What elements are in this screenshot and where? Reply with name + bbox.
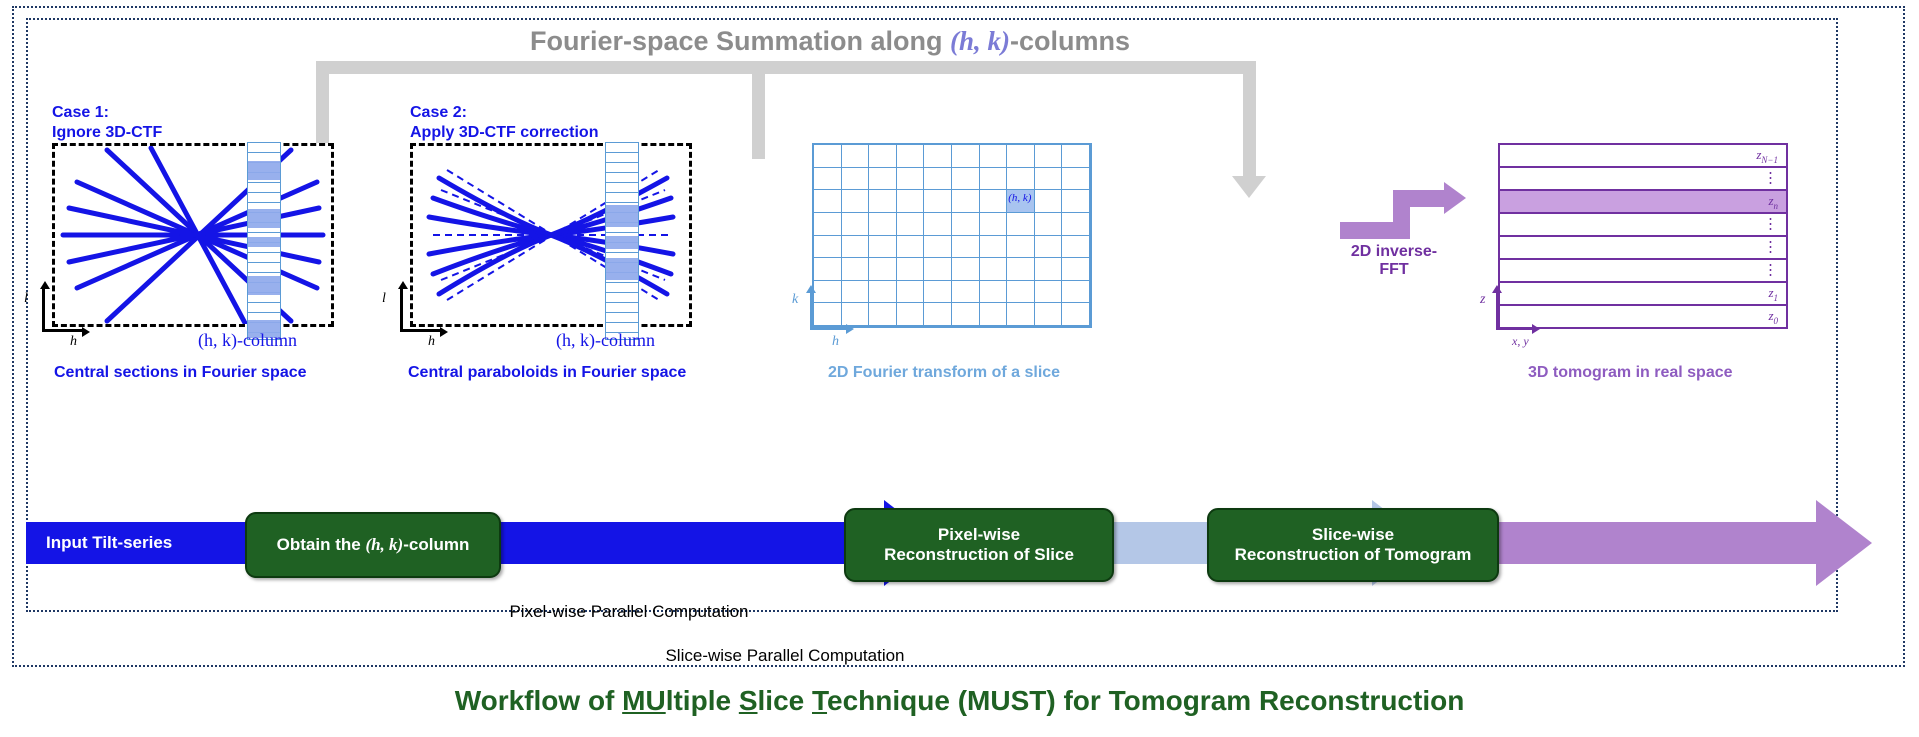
case1-caption: Central sections in Fourier space <box>54 364 307 382</box>
fourier-grid-cell <box>1035 258 1063 281</box>
fourier-grid-cell <box>1007 168 1035 191</box>
tomogram-slice-ellipsis: ⋮ <box>1763 243 1778 252</box>
grey-bracket-leg-grid <box>1243 61 1256 181</box>
gbox3-line1: Slice-wise <box>1312 525 1394 544</box>
fourier-grid-cell <box>842 258 870 281</box>
tomo-xaxis-label: x, y <box>1512 334 1529 349</box>
fourier-grid-cell <box>924 145 952 168</box>
tomogram-slices: zN−1⋮zn⋮⋮⋮z1z0 <box>1498 143 1788 329</box>
fourier-grid-cell <box>897 236 925 259</box>
case2-xaxis-label: h <box>428 334 435 350</box>
fourier-grid-cell <box>952 303 980 326</box>
fourier-grid-cell <box>842 213 870 236</box>
heading-suffix: -columns <box>1010 26 1130 56</box>
fourier-grid-cell <box>980 236 1008 259</box>
central-paraboloids-svg <box>413 146 689 324</box>
fourier-grid-cell <box>980 281 1008 304</box>
flow-arrow-purple-head-icon <box>1816 500 1872 586</box>
fourier-grid-cell <box>1062 258 1090 281</box>
grey-bracket-top <box>316 61 1256 74</box>
case2-caption: Central paraboloids in Fourier space <box>408 364 686 382</box>
fourier-grid-cell <box>924 168 952 191</box>
heading-prefix: Fourier-space Summation along <box>530 26 950 56</box>
gbox1-pre: Obtain the <box>277 535 366 554</box>
fourier-grid-cell <box>980 213 1008 236</box>
fourier-grid-cell <box>897 145 925 168</box>
tomogram-slice: z1 <box>1500 283 1786 306</box>
fourier-grid-cell <box>952 168 980 191</box>
fourier-grid-cell <box>1007 303 1035 326</box>
title-part2: ltiple <box>666 685 739 716</box>
case1-line2: Ignore 3D-CTF <box>52 123 162 143</box>
tomogram-slice-highlighted: zn <box>1500 191 1786 214</box>
fourier-grid-cell <box>1035 213 1063 236</box>
fourier-grid-cell <box>952 213 980 236</box>
fourier-grid-cell-hk: (h, k) <box>1007 190 1035 213</box>
title-part4: echnique (MUST) for Tomogram Reconstruct… <box>827 685 1464 716</box>
tomogram-slice: z0 <box>1500 306 1786 327</box>
tomogram-slice: ⋮ <box>1500 237 1786 260</box>
fourier-grid-cell <box>1062 213 1090 236</box>
grid-yaxis-arrow-icon <box>806 285 816 293</box>
gbox2-line2: Reconstruction of Slice <box>884 545 1074 564</box>
grid-yaxis-label: k <box>792 292 798 308</box>
slice-wise-parallel-caption: Slice-wise Parallel Computation <box>560 646 1010 666</box>
inverse-fft-arrow-head-icon <box>1444 182 1466 214</box>
case1-xaxis-arrow-icon <box>82 327 90 337</box>
case2-hk-column-band <box>605 142 639 340</box>
fourier-grid-cell <box>842 236 870 259</box>
tomogram-slice-ellipsis: ⋮ <box>1763 266 1778 275</box>
case2-line2: Apply 3D-CTF correction <box>410 123 598 143</box>
fourier-grid-cell <box>1062 145 1090 168</box>
fourier-grid-cell <box>869 213 897 236</box>
fourier-grid-cell <box>952 258 980 281</box>
fourier-grid-cell <box>1035 303 1063 326</box>
tomo-yaxis-arrow-icon <box>1492 285 1502 293</box>
case2-xaxis <box>400 329 442 332</box>
main-title: Workflow of MUltiple Slice Technique (MU… <box>0 685 1919 717</box>
fourier-grid-cell <box>869 190 897 213</box>
tomogram-slice-ellipsis: ⋮ <box>1763 174 1778 183</box>
fourier-grid-cell <box>897 213 925 236</box>
fourier-grid-cell <box>980 190 1008 213</box>
grey-bracket-leg-case2 <box>752 61 765 159</box>
fourier-grid-cell <box>814 303 842 326</box>
input-tilt-series-label: Input Tilt-series <box>46 533 172 553</box>
fourier-grid-cell <box>814 236 842 259</box>
inverse-fft-line1: 2D inverse- <box>1334 243 1454 261</box>
fourier-grid-caption: 2D Fourier transform of a slice <box>828 364 1060 382</box>
fourier-grid-cell <box>814 168 842 191</box>
tomogram-slice: ⋮ <box>1500 214 1786 237</box>
tomogram-slice-label: zN−1 <box>1756 147 1778 165</box>
fourier-grid-cell <box>952 281 980 304</box>
fourier-grid-cell <box>1062 281 1090 304</box>
inverse-fft-label: 2D inverse- FFT <box>1334 243 1454 280</box>
tomogram-slice-label: z0 <box>1768 308 1778 326</box>
heading-hk: (h, k) <box>950 26 1010 56</box>
fourier-grid-cell <box>924 258 952 281</box>
tomo-xaxis-arrow-icon <box>1532 324 1540 334</box>
fourier-grid-cell <box>924 303 952 326</box>
fourier-grid-cell <box>897 281 925 304</box>
fourier-grid-cell <box>897 168 925 191</box>
fourier-grid-cell <box>842 303 870 326</box>
case2-xaxis-arrow-icon <box>440 327 448 337</box>
tomogram-slice: ⋮ <box>1500 260 1786 283</box>
fourier-grid-cell <box>1062 303 1090 326</box>
title-u3: T <box>812 685 827 716</box>
case1-label: Case 1: Ignore 3D-CTF <box>52 103 162 143</box>
fourier-grid-cell <box>1007 145 1035 168</box>
grid-xaxis-label: h <box>832 334 839 350</box>
fourier-grid-cell <box>869 281 897 304</box>
pixel-wise-parallel-caption: Pixel-wise Parallel Computation <box>424 602 834 622</box>
tomogram-slice: zN−1 <box>1500 145 1786 168</box>
fourier-grid-cell <box>1007 281 1035 304</box>
fourier-grid-cell <box>842 281 870 304</box>
fourier-grid-cell <box>980 145 1008 168</box>
case1-column-caption: (h, k)-column <box>198 330 297 351</box>
case1-yaxis <box>42 288 45 332</box>
fourier-grid-cell <box>924 213 952 236</box>
obtain-hk-column-box[interactable]: Obtain the (h, k)-column <box>245 512 501 578</box>
tomogram-slice-label: zn <box>1768 193 1778 211</box>
tomo-xaxis <box>1496 328 1534 330</box>
pixel-wise-reconstruction-box[interactable]: Pixel-wiseReconstruction of Slice <box>844 508 1114 582</box>
case1-xaxis <box>42 329 84 332</box>
fourier-grid-cell <box>842 145 870 168</box>
case1-line1: Case 1: <box>52 103 162 123</box>
fourier-grid-cell <box>1007 236 1035 259</box>
title-part3: lice <box>758 685 812 716</box>
fourier-grid-cell <box>952 236 980 259</box>
fourier-grid-cell <box>897 258 925 281</box>
fourier-transform-grid: (h, k) <box>812 143 1092 328</box>
fourier-grid-hk-label: (h, k) <box>1008 192 1031 204</box>
tomogram-slice-label: z1 <box>1768 285 1778 303</box>
case2-diagram <box>413 146 689 324</box>
case1-panel <box>52 143 334 327</box>
case1-yaxis-label: l <box>24 291 28 307</box>
fourier-grid-cell <box>952 190 980 213</box>
central-sections-svg <box>55 146 331 324</box>
tomo-yaxis <box>1496 292 1498 330</box>
gbox1-hk: (h, k) <box>365 535 403 554</box>
fourier-grid-cell <box>1035 281 1063 304</box>
case1-yaxis-arrow-icon <box>40 281 50 289</box>
tomogram-slice: ⋮ <box>1500 168 1786 191</box>
fourier-grid-cell <box>897 190 925 213</box>
fourier-grid-cell <box>1062 168 1090 191</box>
fourier-grid-cell <box>924 190 952 213</box>
tomogram-caption: 3D tomogram in real space <box>1528 364 1733 382</box>
fourier-summation-heading: Fourier-space Summation along (h, k)-col… <box>330 26 1330 57</box>
fourier-grid-cell <box>924 236 952 259</box>
fourier-grid-cell <box>924 281 952 304</box>
fourier-grid-cell <box>1035 145 1063 168</box>
fourier-grid-cell <box>869 236 897 259</box>
fourier-grid-cell <box>814 190 842 213</box>
inverse-fft-arrow-segment3 <box>1393 190 1449 207</box>
fourier-grid-cell <box>869 168 897 191</box>
case2-line1: Case 2: <box>410 103 598 123</box>
title-u2: S <box>739 685 758 716</box>
case2-column-caption: (h, k)-column <box>556 330 655 351</box>
gbox3-line2: Reconstruction of Tomogram <box>1235 545 1472 564</box>
case1-hk-column-band <box>247 142 281 340</box>
gbox2-line1: Pixel-wise <box>938 525 1020 544</box>
fourier-grid-cell <box>814 145 842 168</box>
fourier-grid-cell <box>1007 213 1035 236</box>
case2-yaxis-arrow-icon <box>398 281 408 289</box>
grid-xaxis-arrow-icon <box>846 324 854 334</box>
fourier-grid-cell <box>1035 190 1063 213</box>
fourier-grid-cell <box>980 258 1008 281</box>
case1-xaxis-label: h <box>70 334 77 350</box>
case1-diagram <box>55 146 331 324</box>
grid-xaxis <box>810 328 848 330</box>
fourier-grid-cell <box>980 303 1008 326</box>
fourier-grid-cell <box>1062 236 1090 259</box>
gbox1-post: -column <box>403 535 469 554</box>
tomo-yaxis-label: z <box>1480 292 1485 308</box>
fourier-grid-cell <box>952 145 980 168</box>
fourier-grid-cell <box>842 190 870 213</box>
fourier-grid-cell <box>980 168 1008 191</box>
fourier-grid-cell <box>869 258 897 281</box>
fourier-grid-cell <box>1035 236 1063 259</box>
slice-wise-reconstruction-box[interactable]: Slice-wiseReconstruction of Tomogram <box>1207 508 1499 582</box>
fourier-grid-cell <box>842 168 870 191</box>
fourier-grid-cell <box>814 281 842 304</box>
fourier-grid-cell <box>869 303 897 326</box>
title-u1: MU <box>622 685 666 716</box>
fourier-grid-cell <box>814 213 842 236</box>
fourier-grid-cell <box>1062 190 1090 213</box>
case2-yaxis-label: l <box>382 291 386 307</box>
case2-panel <box>410 143 692 327</box>
title-part1: Workflow of <box>455 685 622 716</box>
fourier-grid-cell <box>1007 258 1035 281</box>
case2-yaxis <box>400 288 403 332</box>
fourier-grid-cell <box>869 145 897 168</box>
fourier-grid-cell <box>814 258 842 281</box>
grid-yaxis <box>810 292 812 330</box>
tomogram-slice-ellipsis: ⋮ <box>1763 220 1778 229</box>
case2-label: Case 2: Apply 3D-CTF correction <box>410 103 598 143</box>
fourier-grid-cell <box>1035 168 1063 191</box>
inverse-fft-line2: FFT <box>1334 261 1454 279</box>
grey-arrow-down-icon <box>1232 176 1266 198</box>
fourier-grid-cell <box>897 303 925 326</box>
